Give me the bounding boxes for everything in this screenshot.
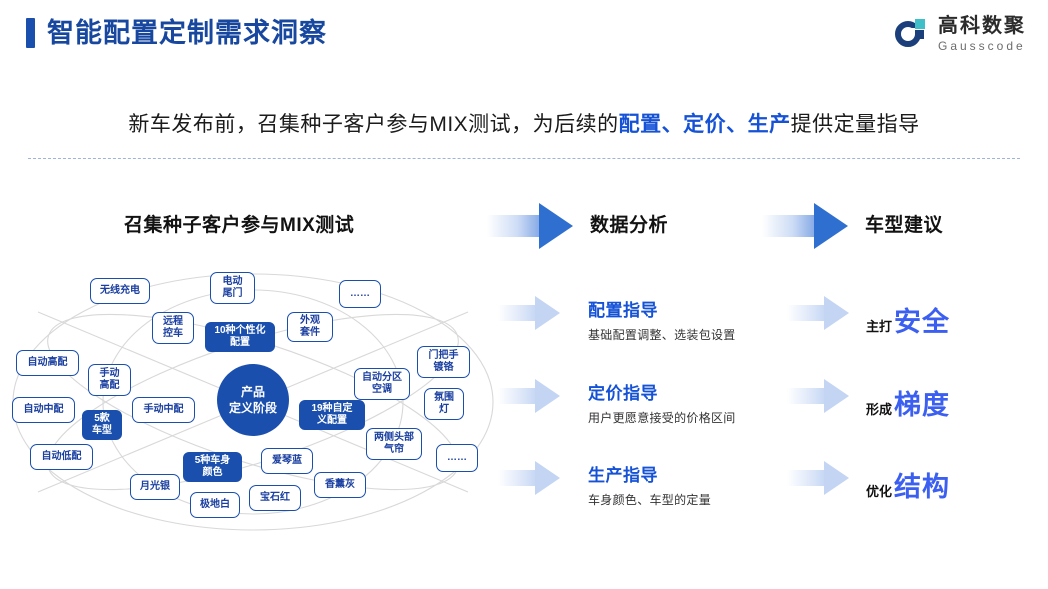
row-arrow-left-2-icon xyxy=(498,379,560,413)
diagram-node[interactable]: 外观套件 xyxy=(287,312,333,342)
suggestion-prefix: 形成 xyxy=(866,399,892,418)
analysis-subtitle: 车身颜色、车型的定量 xyxy=(588,491,711,508)
diagram-node[interactable]: 两侧头部气帘 xyxy=(366,428,422,460)
node-label: 爱琴蓝 xyxy=(272,455,302,468)
node-label: 自动高配 xyxy=(28,357,68,370)
diagram-node[interactable]: 自动中配 xyxy=(12,397,75,423)
subtitle-part1: 新车发布前，召集种子客户参与MIX测试，为后续的 xyxy=(128,113,618,136)
center-line-1: 产品 xyxy=(241,385,265,399)
flow-arrow-1-icon xyxy=(487,203,573,249)
node-label: 5种车身颜色 xyxy=(195,455,231,480)
column-header-model-suggestion: 车型建议 xyxy=(865,210,943,237)
analysis-row-production: 生产指导 车身颜色、车型的定量 xyxy=(588,461,711,508)
diagram-node[interactable]: …… xyxy=(339,280,381,308)
diagram-node[interactable]: 宝石红 xyxy=(249,485,301,511)
node-label: …… xyxy=(447,452,467,465)
subtitle: 新车发布前，召集种子客户参与MIX测试，为后续的配置、定价、生产提供定量指导 xyxy=(0,108,1048,138)
node-label: 手动高配 xyxy=(100,368,120,393)
node-label: 自动低配 xyxy=(42,451,82,464)
diagram-node[interactable]: 无线充电 xyxy=(90,278,150,304)
column-header-data-analysis: 数据分析 xyxy=(590,210,668,237)
node-label: 香薰灰 xyxy=(325,479,355,492)
diagram-node[interactable]: 香薰灰 xyxy=(314,472,366,498)
diagram-node[interactable]: 爱琴蓝 xyxy=(261,448,313,474)
suggestion-keyword: 安全 xyxy=(894,300,950,339)
suggestion-keyword: 结构 xyxy=(894,465,950,504)
node-label: 极地白 xyxy=(200,499,230,512)
diagram-node-highlight[interactable]: 19种自定义配置 xyxy=(299,400,365,430)
analysis-subtitle: 用户更愿意接受的价格区间 xyxy=(588,409,736,426)
diagram-node-highlight[interactable]: 5款车型 xyxy=(82,410,122,440)
suggestion-prefix: 主打 xyxy=(866,316,892,335)
node-label: 两侧头部气帘 xyxy=(374,432,414,457)
diagram-node[interactable]: 门把手镀铬 xyxy=(417,346,470,378)
diagram-node-highlight[interactable]: 10种个性化配置 xyxy=(205,322,275,352)
node-label: 无线充电 xyxy=(100,285,140,298)
suggestion-row-tier: 形成 梯度 xyxy=(866,383,950,422)
suggestion-keyword: 梯度 xyxy=(894,383,950,422)
row-arrow-right-3-icon xyxy=(787,461,849,495)
diagram-node[interactable]: 远程控车 xyxy=(152,312,194,344)
node-label: 电动尾门 xyxy=(223,276,243,301)
logo-name-cn: 高科数聚 xyxy=(938,16,1026,36)
node-label: 外观套件 xyxy=(300,315,320,340)
analysis-title: 生产指导 xyxy=(588,461,711,486)
flow-arrow-2-icon xyxy=(762,203,848,249)
analysis-row-config: 配置指导 基础配置调整、选装包设置 xyxy=(588,296,736,343)
mindmap-diagram: 产品定义阶段 无线充电 电动尾门 …… 远程控车 10种个性化配置 外观套件 门… xyxy=(8,252,498,552)
logo-glyph-icon xyxy=(895,17,929,51)
analysis-title: 定价指导 xyxy=(588,379,736,404)
suggestion-row-safety: 主打 安全 xyxy=(866,300,950,339)
title-accent-bar xyxy=(26,18,35,48)
diagram-node[interactable]: 手动高配 xyxy=(88,364,131,396)
node-label: 宝石红 xyxy=(260,492,290,505)
suggestion-row-structure: 优化 结构 xyxy=(866,465,950,504)
analysis-title: 配置指导 xyxy=(588,296,736,321)
node-label: 氛围灯 xyxy=(434,392,454,417)
node-label: …… xyxy=(350,288,370,301)
diagram-center-node: 产品定义阶段 xyxy=(217,364,289,436)
diagram-node[interactable]: 自动低配 xyxy=(30,444,93,470)
slide-root: 智能配置定制需求洞察 高科数聚 Gausscode 新车发布前，召集种子客户参与… xyxy=(0,0,1048,589)
page-title: 智能配置定制需求洞察 xyxy=(26,18,327,48)
diagram-node[interactable]: 自动分区空调 xyxy=(354,368,410,400)
row-arrow-right-1-icon xyxy=(787,296,849,330)
diagram-node[interactable]: 月光银 xyxy=(130,474,180,500)
center-line-2: 定义阶段 xyxy=(229,401,277,415)
subtitle-part2: 提供定量指导 xyxy=(791,113,920,136)
row-arrow-left-3-icon xyxy=(498,461,560,495)
analysis-subtitle: 基础配置调整、选装包设置 xyxy=(588,326,736,343)
diagram-node[interactable]: …… xyxy=(436,444,478,472)
diagram-node[interactable]: 自动高配 xyxy=(16,350,79,376)
analysis-row-pricing: 定价指导 用户更愿意接受的价格区间 xyxy=(588,379,736,426)
section-divider xyxy=(28,158,1020,159)
node-label: 自动分区空调 xyxy=(362,372,402,397)
node-label: 月光银 xyxy=(140,481,170,494)
diagram-node-highlight[interactable]: 5种车身颜色 xyxy=(183,452,242,482)
node-label: 门把手镀铬 xyxy=(429,350,459,375)
node-label: 10种个性化配置 xyxy=(214,325,265,350)
title-text: 智能配置定制需求洞察 xyxy=(47,20,327,47)
column-header-mix-test: 召集种子客户参与MIX测试 xyxy=(124,210,354,237)
node-label: 远程控车 xyxy=(163,316,183,341)
node-label: 自动中配 xyxy=(24,404,64,417)
diagram-node[interactable]: 氛围灯 xyxy=(424,388,464,420)
node-label: 19种自定义配置 xyxy=(311,403,352,428)
diagram-node[interactable]: 极地白 xyxy=(190,492,240,518)
diagram-node[interactable]: 手动中配 xyxy=(132,397,195,423)
node-label: 手动中配 xyxy=(144,404,184,417)
logo-name-en: Gausscode xyxy=(938,40,1026,52)
diagram-node[interactable]: 电动尾门 xyxy=(210,272,255,304)
row-arrow-left-1-icon xyxy=(498,296,560,330)
row-arrow-right-2-icon xyxy=(787,379,849,413)
brand-logo: 高科数聚 Gausscode xyxy=(895,16,1026,52)
node-label: 5款车型 xyxy=(92,413,112,438)
suggestion-prefix: 优化 xyxy=(866,481,892,500)
subtitle-highlight: 配置、定价、生产 xyxy=(619,113,791,136)
